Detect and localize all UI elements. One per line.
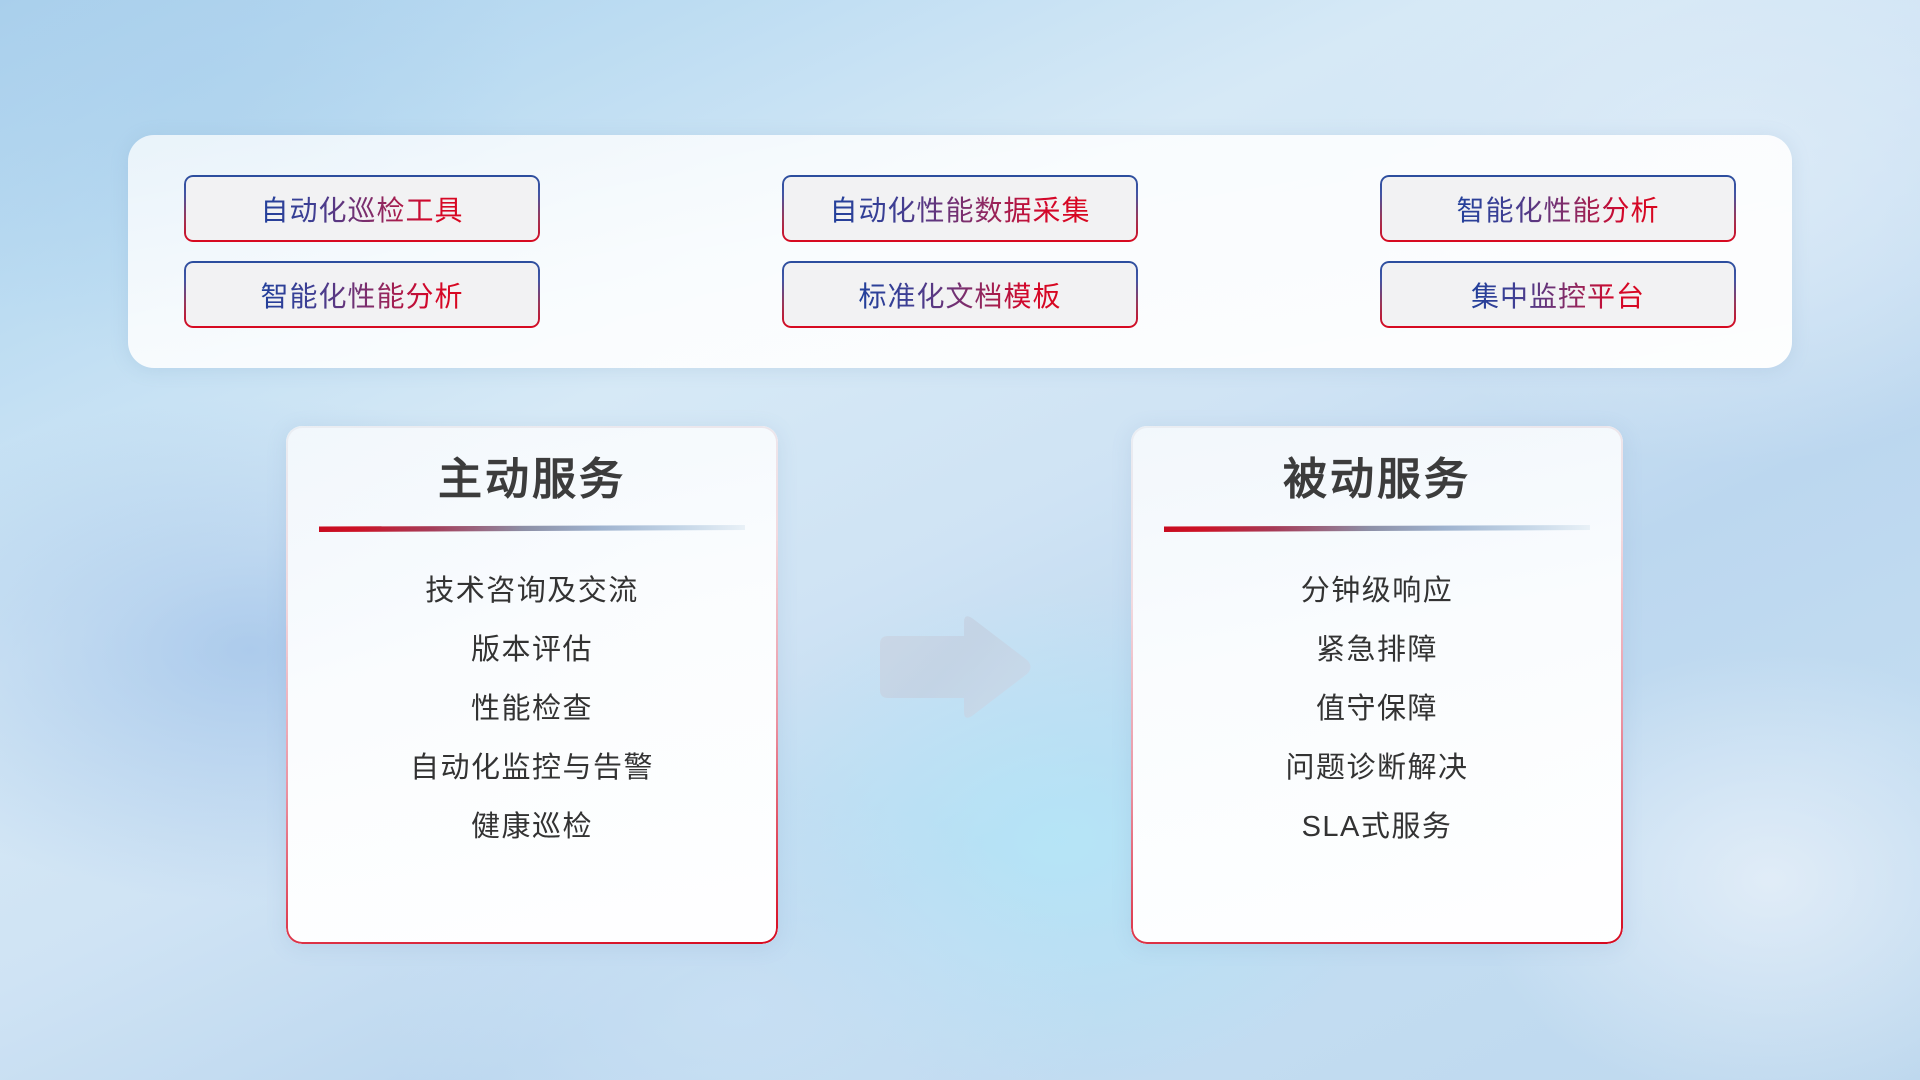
service-card-active: 主动服务 技术咨询及交流 版本评估 性能检查 自动化监控与告警 健康巡检 [286, 426, 778, 944]
service-list-item: 版本评估 [471, 621, 593, 680]
capability-pill-auto-inspection-tool[interactable]: 自动化巡检工具 [184, 175, 540, 242]
capability-row-1: 自动化巡检工具 自动化性能数据采集 智能化性能分析 [184, 175, 1736, 242]
capability-pill-standard-doc-template[interactable]: 标准化文档模板 [782, 261, 1138, 328]
capability-pill-label: 集中监控平台 [1471, 275, 1645, 315]
capability-pill-intelligent-performance-analysis-2[interactable]: 智能化性能分析 [184, 261, 540, 328]
capability-pill-intelligent-performance-analysis[interactable]: 智能化性能分析 [1380, 175, 1736, 242]
service-card-body: 被动服务 分钟级响应 紧急排障 值守保障 问题诊断解决 SLA式服务 [1131, 426, 1623, 944]
service-item-list: 分钟级响应 紧急排障 值守保障 问题诊断解决 SLA式服务 [1131, 562, 1623, 857]
title-divider [1164, 525, 1590, 532]
service-list-item: 健康巡检 [471, 798, 593, 857]
service-card-title: 主动服务 [438, 452, 626, 507]
capability-pill-label: 自动化性能数据采集 [829, 189, 1090, 229]
service-list-item: 值守保障 [1316, 680, 1438, 739]
slide-canvas: 自动化巡检工具 自动化性能数据采集 智能化性能分析 智能化性能分析 标准化文档模… [0, 0, 1920, 1080]
arrow-right-icon [872, 612, 1034, 722]
service-list-item: 问题诊断解决 [1285, 739, 1468, 798]
title-divider [319, 525, 745, 532]
capability-pill-centralized-monitoring-platform[interactable]: 集中监控平台 [1380, 261, 1736, 328]
service-item-list: 技术咨询及交流 版本评估 性能检查 自动化监控与告警 健康巡检 [286, 562, 778, 857]
capability-row-2: 智能化性能分析 标准化文档模板 集中监控平台 [184, 261, 1736, 328]
service-card-body: 主动服务 技术咨询及交流 版本评估 性能检查 自动化监控与告警 健康巡检 [286, 426, 778, 944]
capability-pill-label: 标准化文档模板 [858, 275, 1061, 315]
service-list-item: 性能检查 [471, 680, 593, 739]
capability-pill-label: 智能化性能分析 [1456, 189, 1659, 229]
capability-pill-label: 自动化巡检工具 [260, 189, 463, 229]
service-card-title: 被动服务 [1283, 452, 1471, 507]
capability-panel: 自动化巡检工具 自动化性能数据采集 智能化性能分析 智能化性能分析 标准化文档模… [128, 135, 1792, 368]
service-list-item: 分钟级响应 [1301, 562, 1454, 621]
capability-pill-label: 智能化性能分析 [260, 275, 463, 315]
service-card-passive: 被动服务 分钟级响应 紧急排障 值守保障 问题诊断解决 SLA式服务 [1131, 426, 1623, 944]
service-list-item: 紧急排障 [1316, 621, 1438, 680]
service-list-item: 自动化监控与告警 [410, 739, 654, 798]
capability-pill-auto-performance-collection[interactable]: 自动化性能数据采集 [782, 175, 1138, 242]
service-list-item: SLA式服务 [1302, 798, 1453, 857]
service-list-item: 技术咨询及交流 [425, 562, 639, 621]
